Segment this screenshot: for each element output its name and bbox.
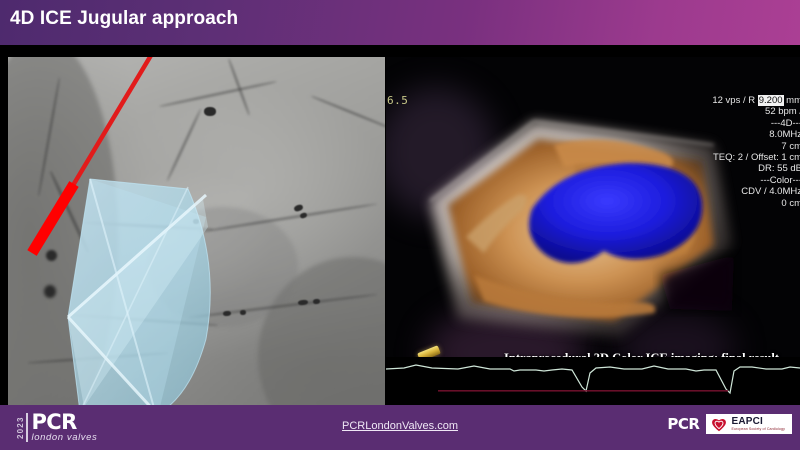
footer-logos: PCR EAPCI European Society of Cardiology: [667, 414, 792, 434]
eapci-textblock: EAPCI European Society of Cardiology: [731, 417, 785, 432]
eapci-logo: EAPCI European Society of Cardiology: [706, 414, 792, 434]
echo-parameters-readout: 12 vps / R 9.200 mm 52 bpm / ---4D--- 8.…: [712, 95, 800, 209]
echo-param-line: 0 cm: [712, 198, 800, 209]
presentation-slide: 4D ICE Jugular approach: [0, 0, 800, 450]
echo-param-line: 12 vps / R 9.200 mm: [712, 95, 800, 106]
echo-param-line: DR: 55 dB: [712, 163, 800, 174]
echo-3d-volume: [414, 105, 744, 355]
echo-param-line: 8.0MHz: [712, 129, 800, 140]
eapci-name: EAPCI: [731, 417, 785, 427]
slide-footer: 2023 PCR london valves PCRLondonValves.c…: [0, 405, 800, 450]
slide-header: 4D ICE Jugular approach: [0, 0, 800, 45]
echo-param-line: ---4D---: [712, 118, 800, 129]
echo-param-line: CDV / 4.0MHz: [712, 186, 800, 197]
ecg-trace: [386, 357, 800, 405]
echo-param-line: 7 cm: [712, 141, 800, 152]
echo-panel: 6.5: [386, 57, 800, 405]
eapci-subtitle: European Society of Cardiology: [731, 427, 785, 432]
echo-param-line: ---Color---: [712, 175, 800, 186]
page-title: 4D ICE Jugular approach: [10, 8, 238, 30]
echo-param-line: 52 bpm /: [712, 106, 800, 117]
ecg-timebar: [438, 390, 728, 392]
logo-sub-london-valves: london valves: [32, 432, 98, 443]
fluoroscopy-panel: [8, 57, 385, 405]
echo-depth-label: 6.5: [387, 94, 408, 107]
heart-icon: [711, 417, 727, 432]
pcr-logo-small: PCR: [667, 415, 699, 433]
echo-param-line: TEQ: 2 / Offset: 1 cm: [712, 152, 800, 163]
ice-volume-overlay: [38, 157, 228, 405]
electrode-marker: [204, 107, 216, 116]
echo-param-highlight: 9.200: [758, 95, 784, 106]
